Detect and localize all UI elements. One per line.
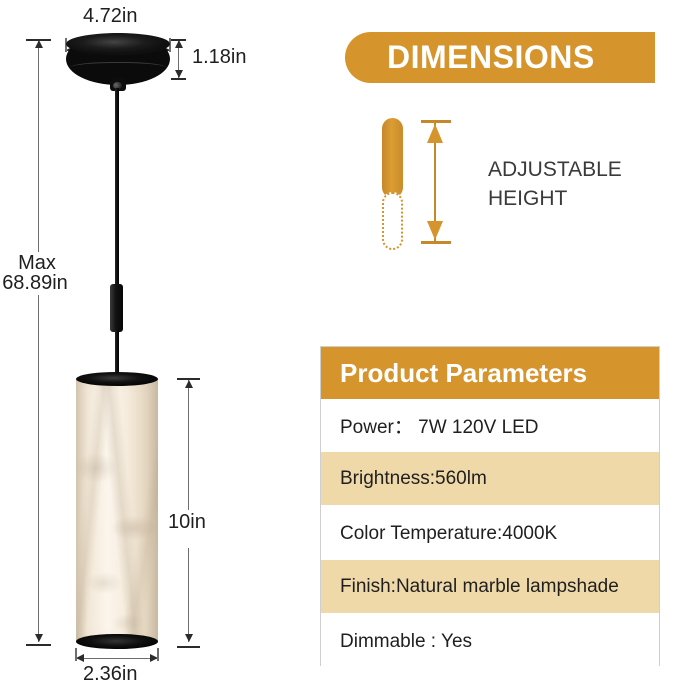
product-parameters-table: Product Parameters Power： 7W 120V LED Br… <box>320 346 660 666</box>
param-power: Power： 7W 120V LED <box>340 412 539 439</box>
shade-height-dim-line-lower <box>188 548 189 642</box>
shade-width-label: 2.36in <box>83 663 138 686</box>
shade-height-tick-bottom <box>177 646 200 648</box>
shade-width-tick-left <box>75 648 77 661</box>
adjustable-arrow-up-icon <box>427 124 443 143</box>
canopy-height-label: 1.18in <box>192 46 247 69</box>
shade-width-arrow-left-icon <box>76 654 84 662</box>
shade-bottom-cap <box>76 634 158 649</box>
adjustable-height-dotted-pill-icon <box>382 192 403 250</box>
adjustable-height-text: ADJUSTABLE HEIGHT <box>488 155 622 213</box>
canopy-height-tick-bottom <box>171 78 186 80</box>
param-dimmable: Dimmable : Yes <box>340 631 472 653</box>
marble-cylinder-shade <box>76 378 158 644</box>
max-drop-dim-line-lower <box>38 292 39 642</box>
shade-height-tick-top <box>177 378 200 380</box>
param-brightness: Brightness:560lm <box>340 468 487 490</box>
canopy-height-arrow-up-icon <box>175 40 183 48</box>
adjustable-arrow-top-cap <box>421 120 451 123</box>
shade-height-arrow-up-icon <box>185 380 193 388</box>
suspension-cord-upper <box>115 88 119 288</box>
canopy-top-surface <box>66 33 170 55</box>
dimensions-banner: DIMENSIONS <box>345 32 655 83</box>
shade-top-cap <box>76 372 158 386</box>
max-drop-dim-line-upper <box>38 40 39 253</box>
max-drop-arrow-up-icon <box>35 40 43 48</box>
table-row: Power： 7W 120V LED <box>321 399 659 452</box>
adjustable-height-line2: HEIGHT <box>488 184 622 213</box>
adjustable-arrow-bottom-cap <box>421 241 451 244</box>
canopy-height-tick-top <box>171 39 186 41</box>
adjustable-arrow-down-icon <box>427 221 443 240</box>
shade-height-dim-line-upper <box>188 380 189 510</box>
product-parameters-title: Product Parameters <box>340 358 587 389</box>
canopy-width-label: 4.72in <box>83 5 138 28</box>
max-drop-tick-bottom <box>26 644 51 646</box>
param-color-temperature: Color Temperature:4000K <box>340 523 557 545</box>
shade-width-tick-right <box>157 648 159 661</box>
param-finish: Finish:Natural marble lampshade <box>340 576 619 598</box>
cord-joint <box>110 284 123 332</box>
max-drop-tick-top <box>26 39 51 41</box>
shade-width-dim-line <box>76 658 158 659</box>
table-row: Finish:Natural marble lampshade <box>321 560 659 613</box>
max-drop-label-line2: 68.89in <box>0 272 72 295</box>
canopy-height-arrow-down-icon <box>175 70 183 78</box>
table-row: Brightness:560lm <box>321 452 659 505</box>
table-row: Color Temperature:4000K <box>321 505 659 560</box>
max-drop-arrow-down-icon <box>35 634 43 642</box>
adjustable-height-line1: ADJUSTABLE <box>488 155 622 184</box>
shade-height-arrow-down-icon <box>185 634 193 642</box>
adjustable-height-solid-pill-icon <box>382 118 403 198</box>
canopy-seam <box>70 62 166 73</box>
table-row: Dimmable : Yes <box>321 613 659 668</box>
suspension-cord-lower <box>115 330 119 378</box>
dimensions-banner-label: DIMENSIONS <box>387 39 595 76</box>
product-parameters-header: Product Parameters <box>321 347 659 399</box>
infographic-canvas: 4.72in 1.18in Max 68.89in 10in 2.36in DI… <box>0 0 679 688</box>
shade-height-label: 10in <box>168 511 206 534</box>
